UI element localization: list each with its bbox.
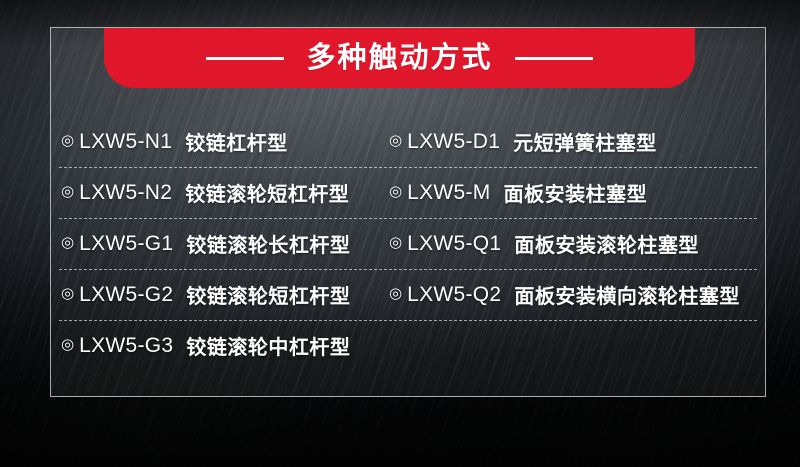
list-item: ◎ LXW5-G1 铰链滚轮长杠杆型 ◎ LXW5-Q1 面板安装滚轮柱塞型 <box>51 218 765 269</box>
content-panel: 多种触动方式 ◎ LXW5-N1 铰链杠杆型 ◎ LXW5-D1 元短弹簧柱塞型 <box>50 27 766 397</box>
model-entry-right: ◎ LXW5-Q1 面板安装滚轮柱塞型 <box>389 229 699 258</box>
model-entry-left: ◎ LXW5-N2 铰链滚轮短杠杆型 <box>61 178 349 207</box>
bullet-circle-icon: ◎ <box>389 133 402 148</box>
model-code: LXW5-N1 <box>79 130 172 154</box>
model-description: 铰链滚轮短杠杆型 <box>186 280 350 309</box>
list-item: ◎ LXW5-G2 铰链滚轮短杠杆型 ◎ LXW5-Q2 面板安装横向滚轮柱塞型 <box>51 269 765 320</box>
model-code: LXW5-D1 <box>407 130 500 154</box>
model-description: 铰链滚轮中杠杆型 <box>186 331 350 360</box>
model-entry-left: ◎ LXW5-G2 铰链滚轮短杠杆型 <box>61 280 350 309</box>
list-item: ◎ LXW5-G3 铰链滚轮中杠杆型 <box>51 320 765 371</box>
model-entry-right: ◎ LXW5-D1 元短弹簧柱塞型 <box>389 127 657 156</box>
model-description: 铰链滚轮长杠杆型 <box>186 229 350 258</box>
model-code: LXW5-G2 <box>79 283 173 307</box>
bullet-circle-icon: ◎ <box>61 337 74 352</box>
model-entry-left: ◎ LXW5-G3 铰链滚轮中杠杆型 <box>61 331 350 360</box>
model-code: LXW5-Q1 <box>407 232 501 256</box>
bullet-circle-icon: ◎ <box>61 235 74 250</box>
bullet-circle-icon: ◎ <box>389 235 402 250</box>
bullet-circle-icon: ◎ <box>61 184 74 199</box>
model-description: 铰链滚轮短杠杆型 <box>185 178 349 207</box>
header-rule-right-icon <box>515 57 593 60</box>
section-header-banner: 多种触动方式 <box>104 28 695 88</box>
model-description: 面板安装滚轮柱塞型 <box>514 229 699 258</box>
model-code: LXW5-M <box>407 181 490 205</box>
product-feature-banner: 多种触动方式 ◎ LXW5-N1 铰链杠杆型 ◎ LXW5-D1 元短弹簧柱塞型 <box>0 0 800 467</box>
model-entry-right: ◎ LXW5-Q2 面板安装横向滚轮柱塞型 <box>389 280 740 309</box>
model-description: 元短弹簧柱塞型 <box>513 127 657 156</box>
model-code: LXW5-Q2 <box>407 283 501 307</box>
list-item: ◎ LXW5-N1 铰链杠杆型 ◎ LXW5-D1 元短弹簧柱塞型 <box>51 116 765 167</box>
model-description: 铰链杠杆型 <box>185 127 288 156</box>
bullet-circle-icon: ◎ <box>61 133 74 148</box>
model-entry-left: ◎ LXW5-N1 铰链杠杆型 <box>61 127 288 156</box>
header-rule-left-icon <box>206 57 284 60</box>
model-code: LXW5-G3 <box>79 334 173 358</box>
model-code: LXW5-N2 <box>79 181 172 205</box>
bullet-circle-icon: ◎ <box>61 286 74 301</box>
model-code: LXW5-G1 <box>79 232 173 256</box>
model-entry-left: ◎ LXW5-G1 铰链滚轮长杠杆型 <box>61 229 350 258</box>
list-item: ◎ LXW5-N2 铰链滚轮短杠杆型 ◎ LXW5-M 面板安装柱塞型 <box>51 167 765 218</box>
model-description: 面板安装柱塞型 <box>504 178 648 207</box>
model-entry-right: ◎ LXW5-M 面板安装柱塞型 <box>389 178 647 207</box>
bullet-circle-icon: ◎ <box>389 184 402 199</box>
model-list: ◎ LXW5-N1 铰链杠杆型 ◎ LXW5-D1 元短弹簧柱塞型 ◎ LXW5… <box>51 116 765 396</box>
bullet-circle-icon: ◎ <box>389 286 402 301</box>
model-description: 面板安装横向滚轮柱塞型 <box>514 280 740 309</box>
page-title: 多种触动方式 <box>306 44 492 73</box>
